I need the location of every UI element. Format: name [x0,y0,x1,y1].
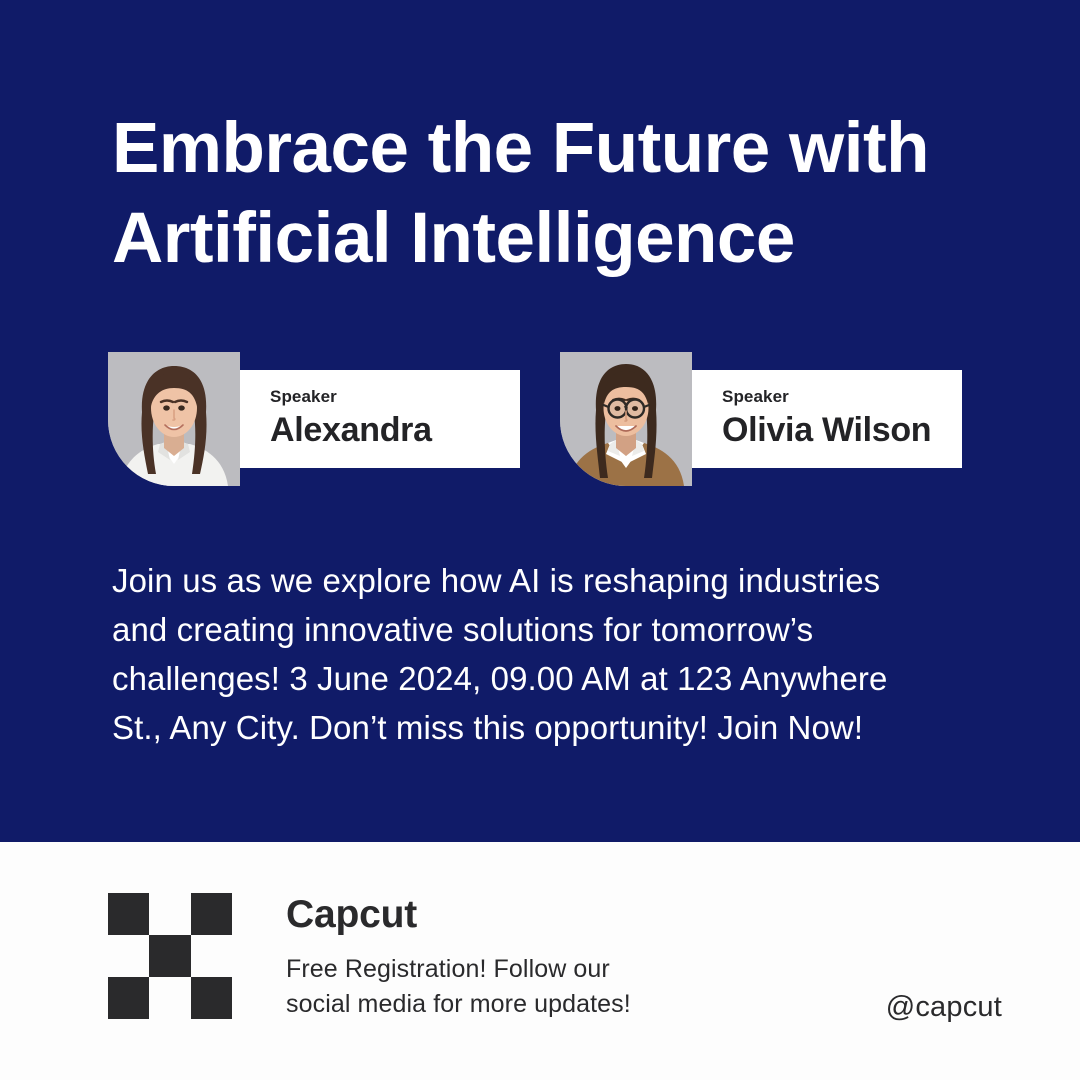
brand-block: Capcut Free Registration! Follow our soc… [286,892,806,1022]
page-title: Embrace the Future with Artificial Intel… [112,104,1012,284]
logo-cell-6 [191,935,232,977]
speaker-photo-alexandra [108,352,240,486]
event-poster: Embrace the Future with Artificial Intel… [0,0,1080,1080]
speaker-nameplate-olivia-wilson: Speaker Olivia Wilson [690,370,962,468]
description-line-1: Join us as we explore how AI is reshapin… [112,556,982,605]
speaker-photo-olivia-wilson [560,352,692,486]
logo-cell-4 [108,935,149,977]
speaker-name: Alexandra [270,409,520,451]
speaker-card-olivia-wilson[interactable]: Speaker Olivia Wilson [560,352,972,486]
description-line-3: challenges! 3 June 2024, 09.00 AM at 123… [112,654,982,703]
logo-cell-2 [149,893,190,935]
logo-cell-7 [108,977,149,1019]
headline-line-1: Embrace the Future with [112,104,1012,194]
speaker-list: Speaker Alexandra [108,352,988,492]
hero-section: Embrace the Future with Artificial Intel… [0,0,1080,842]
brand-name: Capcut [286,892,806,938]
tagline-line-2: social media for more updates! [286,987,806,1022]
speaker-nameplate-alexandra: Speaker Alexandra [238,370,520,468]
speaker-name: Olivia Wilson [722,409,962,451]
speaker-portrait-icon [108,352,240,486]
logo-cell-8 [149,977,190,1019]
logo-cell-1 [108,893,149,935]
description-line-2: and creating innovative solutions for to… [112,605,982,654]
speaker-portrait-icon [560,352,692,486]
footer-section: Capcut Free Registration! Follow our soc… [0,842,1080,1080]
speaker-role-label: Speaker [270,387,520,407]
headline-line-2: Artificial Intelligence [112,194,1012,284]
speaker-role-label: Speaker [722,387,962,407]
event-description: Join us as we explore how AI is reshapin… [112,556,982,752]
description-line-4: St., Any City. Don’t miss this opportuni… [112,703,982,752]
brand-tagline: Free Registration! Follow our social med… [286,952,806,1022]
speaker-card-alexandra[interactable]: Speaker Alexandra [108,352,520,486]
tagline-line-1: Free Registration! Follow our [286,952,806,987]
checkerboard-x-logo-icon [108,893,232,1019]
logo-cell-5 [149,935,190,977]
social-handle[interactable]: @capcut [886,990,1002,1024]
logo-cell-3 [191,893,232,935]
logo-cell-9 [191,977,232,1019]
